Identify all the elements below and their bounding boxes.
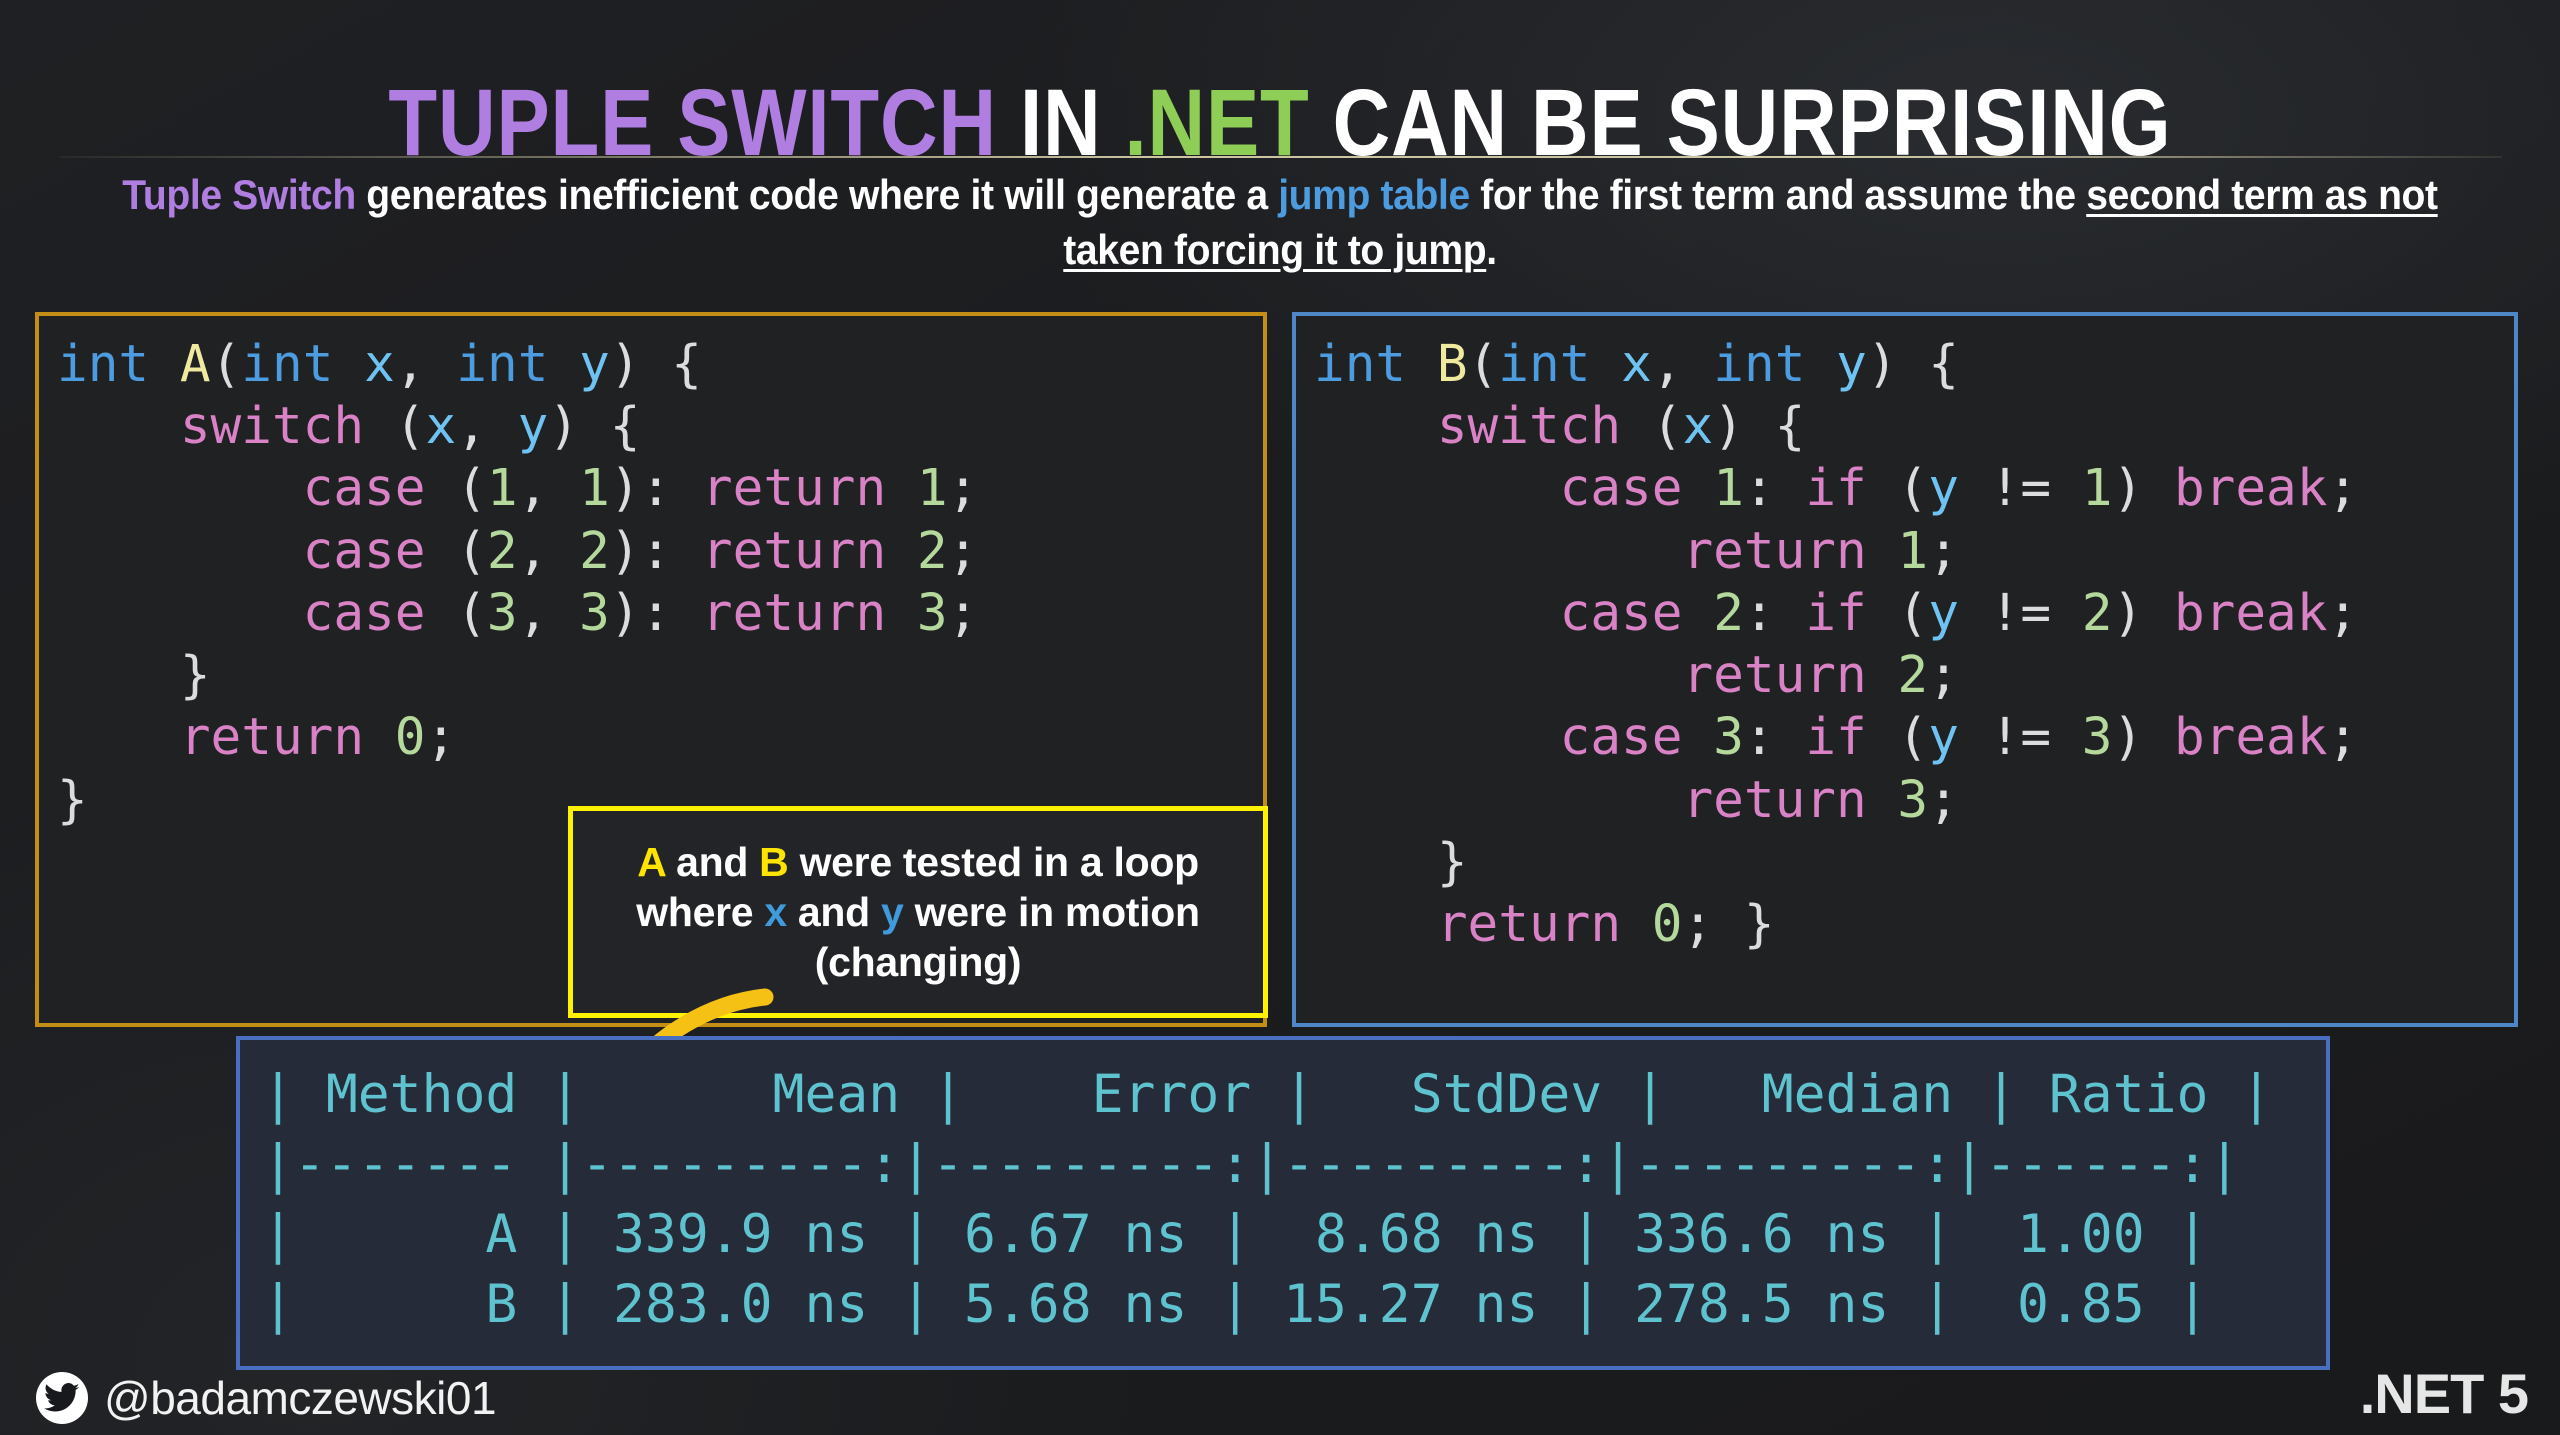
page-title: TUPLE SWITCH IN .NET CAN BE SURPRISING	[205, 72, 2355, 175]
subtitle-period: .	[1486, 226, 1496, 273]
callout-text-1: and	[665, 839, 759, 885]
slide-root: TUPLE SWITCH IN .NET CAN BE SURPRISING T…	[0, 0, 2560, 1435]
title-part-tail: CAN BE SURPRISING	[1310, 70, 2172, 176]
annotation-callout: A and B were tested in a loop where x an…	[568, 806, 1268, 1018]
platform-label: .NET 5	[2360, 1366, 2528, 1422]
benchmark-results-table: | Method | Mean | Error | StdDev | Media…	[236, 1036, 2330, 1370]
twitter-bird-icon	[36, 1372, 88, 1424]
annotation-callout-text: A and B were tested in a loop where x an…	[573, 837, 1263, 987]
code-block-method-b: int B(int x, int y) { switch (x) { case …	[1292, 312, 2518, 1027]
title-part-tuple-switch: TUPLE SWITCH	[388, 70, 997, 176]
callout-var-x: x	[764, 889, 787, 935]
callout-method-a: A	[637, 839, 665, 885]
title-part-in: IN	[997, 70, 1125, 176]
subtitle-text-1: generates inefficient code where it will…	[356, 171, 1278, 218]
subtitle-term-jump-table: jump table	[1278, 171, 1470, 218]
twitter-handle-label: @badamczewski01	[104, 1375, 496, 1421]
benchmark-table-text: | Method | Mean | Error | StdDev | Media…	[240, 1040, 2326, 1340]
title-part-dotnet: .NET	[1124, 70, 1309, 176]
header-divider	[60, 156, 2502, 158]
subtitle: Tuple Switch generates inefficient code …	[116, 168, 2445, 277]
callout-method-b: B	[759, 839, 788, 885]
subtitle-text-2: for the first term and assume the	[1470, 171, 2086, 218]
code-text-method-b: int B(int x, int y) { switch (x) { case …	[1296, 316, 2514, 956]
callout-text-3: and	[787, 889, 881, 935]
code-text-method-a: int A(int x, int y) { switch (x, y) { ca…	[39, 316, 1263, 832]
callout-var-y: y	[881, 889, 904, 935]
subtitle-term-tuple-switch: Tuple Switch	[122, 171, 356, 218]
footer-social[interactable]: @badamczewski01	[36, 1372, 496, 1424]
